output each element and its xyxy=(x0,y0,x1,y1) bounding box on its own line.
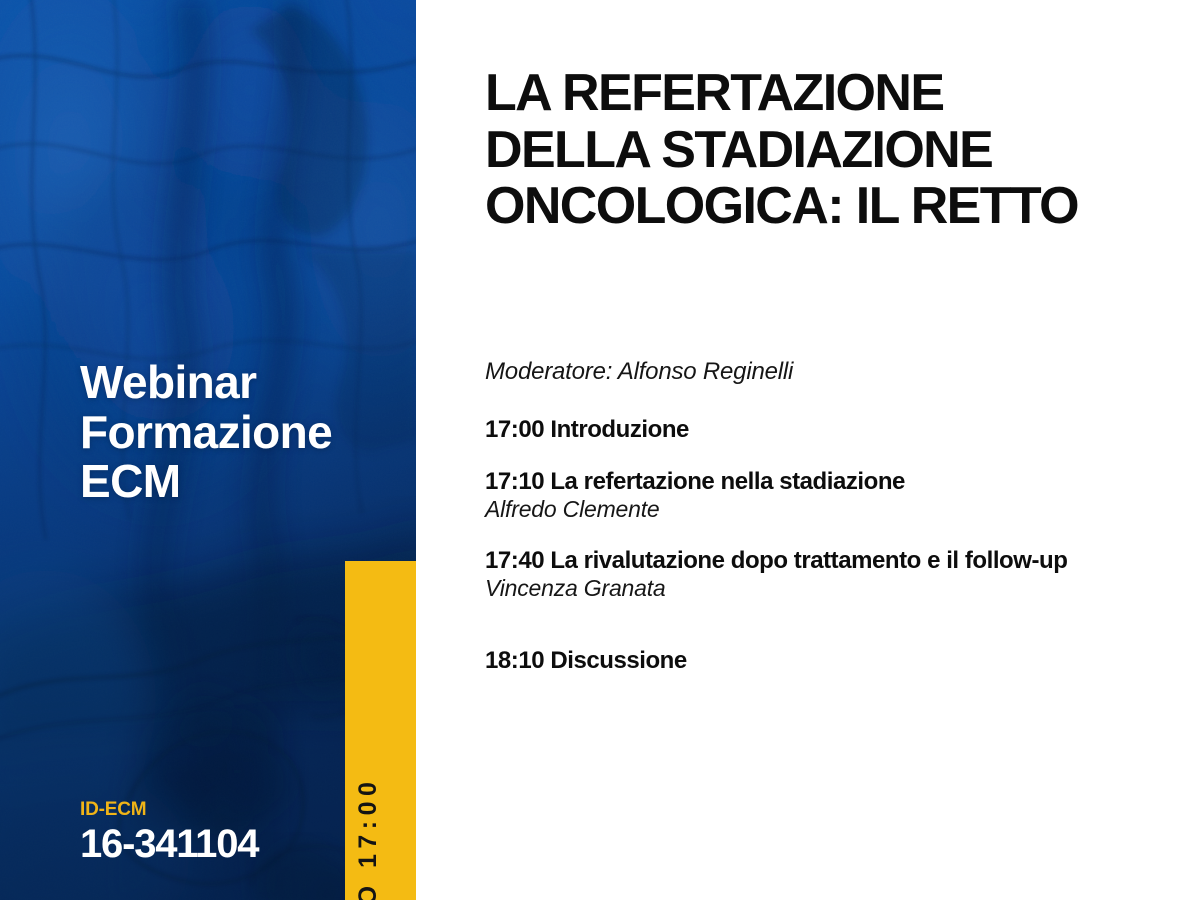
session-title: 17:10 La refertazione nella stadiazione xyxy=(485,468,1175,496)
webinar-poster: Webinar Formazione ECM ID-ECM 16-341104 … xyxy=(0,0,1200,900)
ecm-id-code: 16-341104 xyxy=(80,823,360,865)
event-type-line-1: Webinar xyxy=(80,358,400,408)
date-time-bar-rotator: 8 MARZO 17:00 xyxy=(356,777,381,900)
session-item: 18:10 Discussione xyxy=(485,647,1175,675)
moderator-line: Moderatore: Alfonso Reginelli xyxy=(485,358,1175,387)
page-title: LA REFERTAZIONE DELLA STADIAZIONE ONCOLO… xyxy=(485,65,1165,235)
page-title-line-3: ONCOLOGICA: IL RETTO xyxy=(485,178,1165,235)
date-time-bar: 8 MARZO 17:00 xyxy=(345,561,416,900)
session-item: 17:00 Introduzione xyxy=(485,416,1175,444)
event-type-line-2: Formazione xyxy=(80,408,400,458)
session-item: 17:10 La refertazione nella stadiazione … xyxy=(485,468,1175,523)
program-schedule: Moderatore: Alfonso Reginelli 17:00 Intr… xyxy=(485,358,1175,675)
session-speaker: Alfredo Clemente xyxy=(485,496,1175,523)
page-title-line-1: LA REFERTAZIONE xyxy=(485,65,1165,122)
session-title: 17:40 La rivalutazione dopo trattamento … xyxy=(485,547,1175,575)
event-type-heading: Webinar Formazione ECM xyxy=(80,358,400,507)
session-item: 17:40 La rivalutazione dopo trattamento … xyxy=(485,547,1175,602)
session-title: 18:10 Discussione xyxy=(485,647,1175,675)
ecm-id-block: ID-ECM 16-341104 xyxy=(80,800,360,865)
event-type-line-3: ECM xyxy=(80,457,400,507)
content-panel: LA REFERTAZIONE DELLA STADIAZIONE ONCOLO… xyxy=(416,0,1200,900)
ecm-id-label: ID-ECM xyxy=(80,800,360,821)
date-time-text: 8 MARZO 17:00 xyxy=(356,777,381,900)
session-title: 17:00 Introduzione xyxy=(485,416,1175,444)
page-title-line-2: DELLA STADIAZIONE xyxy=(485,122,1165,179)
session-speaker: Vincenza Granata xyxy=(485,575,1175,602)
